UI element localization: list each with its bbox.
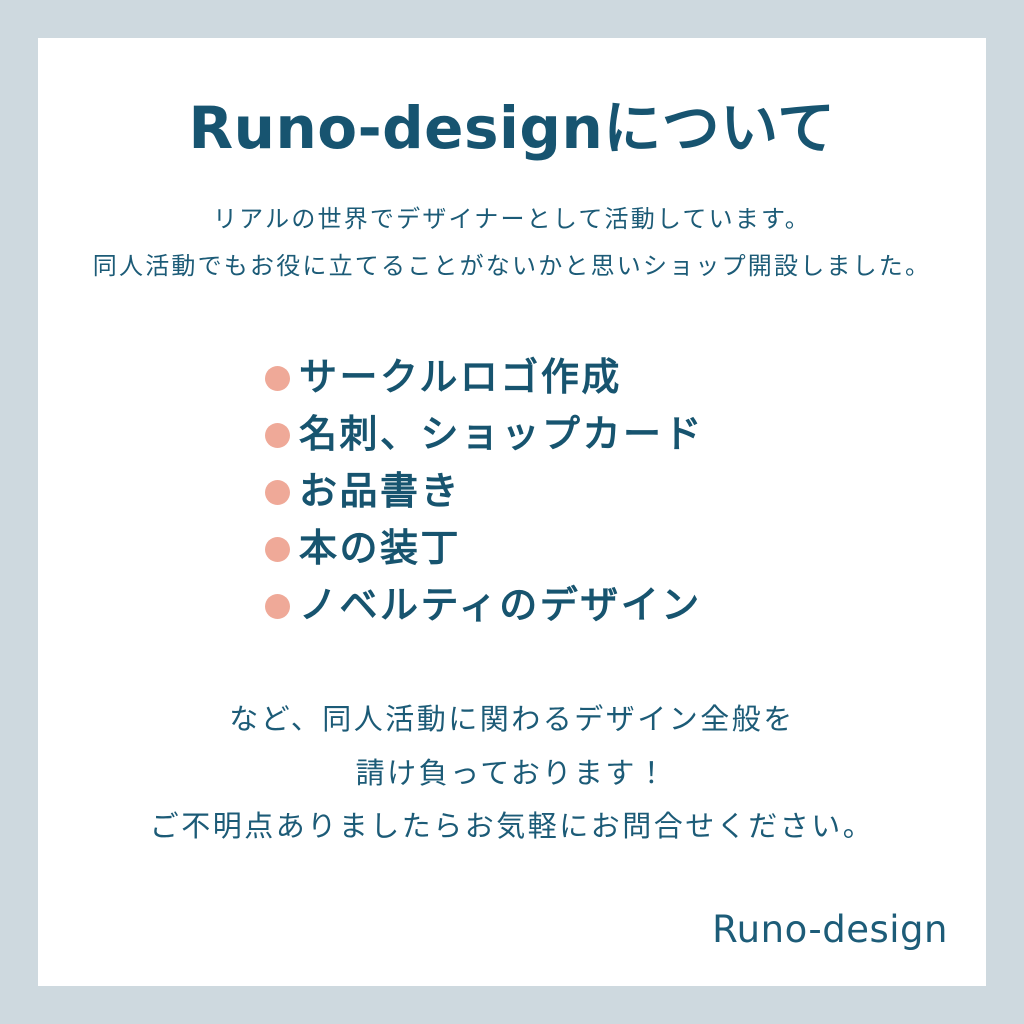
service-list: サークルロゴ作成 名刺、ショップカード お品書き 本の装丁 ノベルティのデザイン <box>38 348 986 633</box>
dot-icon <box>265 594 290 619</box>
page-title: Runo-designについて <box>38 94 986 162</box>
list-item: ノベルティのデザイン <box>265 576 702 633</box>
outro-line: ご不明点ありましたらお気軽にお問合せください。 <box>38 800 986 854</box>
dot-icon <box>265 537 290 562</box>
intro-paragraph: リアルの世界でデザイナーとして活動しています。 同人活動でもお役に立てることがな… <box>38 196 986 290</box>
dot-icon <box>265 480 290 505</box>
brand-signature: Runo-design <box>712 911 948 948</box>
service-label: ノベルティのデザイン <box>299 586 702 624</box>
intro-line: 同人活動でもお役に立てることがないかと思いショップ開設しました。 <box>38 243 986 290</box>
outro-line: など、同人活動に関わるデザイン全般を <box>38 693 986 747</box>
dot-icon <box>265 366 290 391</box>
service-label: 名刺、ショップカード <box>299 415 704 453</box>
list-item: お品書き <box>265 462 461 519</box>
info-card: Runo-designについて リアルの世界でデザイナーとして活動しています。 … <box>38 38 986 986</box>
service-label: お品書き <box>299 472 461 510</box>
service-label: サークルロゴ作成 <box>299 358 622 396</box>
dot-icon <box>265 423 290 448</box>
page-frame: Runo-designについて リアルの世界でデザイナーとして活動しています。 … <box>0 0 1024 1024</box>
list-item: サークルロゴ作成 <box>265 348 622 405</box>
service-label: 本の装丁 <box>299 529 461 567</box>
list-item: 名刺、ショップカード <box>265 405 704 462</box>
intro-line: リアルの世界でデザイナーとして活動しています。 <box>38 196 986 243</box>
list-item: 本の装丁 <box>265 519 461 576</box>
outro-paragraph: など、同人活動に関わるデザイン全般を 請け負っております！ ご不明点ありましたら… <box>38 693 986 854</box>
outro-line: 請け負っております！ <box>38 747 986 801</box>
